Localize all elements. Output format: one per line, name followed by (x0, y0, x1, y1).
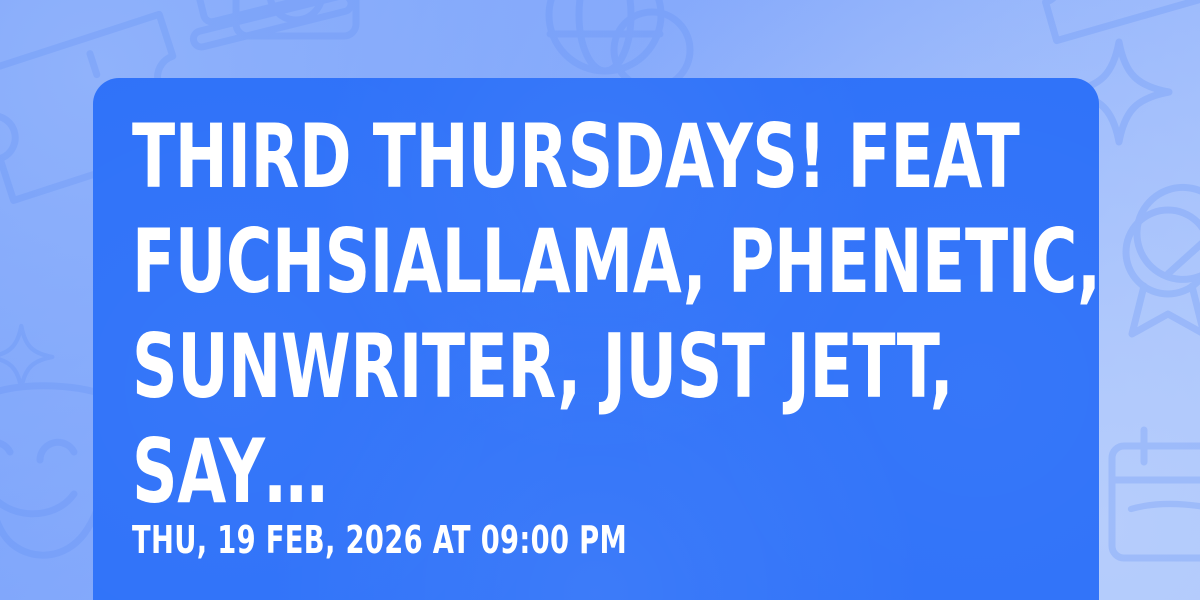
laptop-icon (169, 0, 352, 49)
event-datetime: Thu, 19 Feb, 2026 at 09:00 PM (132, 518, 627, 562)
sparkle-icon (0, 326, 52, 388)
event-title: Third Thursdays! feat FuchsiaLlama, Phen… (132, 104, 1099, 524)
event-card[interactable]: Third Thursdays! feat FuchsiaLlama, Phen… (93, 78, 1099, 600)
event-banner: Third Thursdays! feat FuchsiaLlama, Phen… (0, 0, 1200, 600)
theater-masks-icon (1131, 504, 1200, 600)
card-content: Third Thursdays! feat FuchsiaLlama, Phen… (132, 78, 1069, 600)
ticket-icon (1024, 0, 1200, 41)
calendar-icon (1112, 430, 1200, 558)
